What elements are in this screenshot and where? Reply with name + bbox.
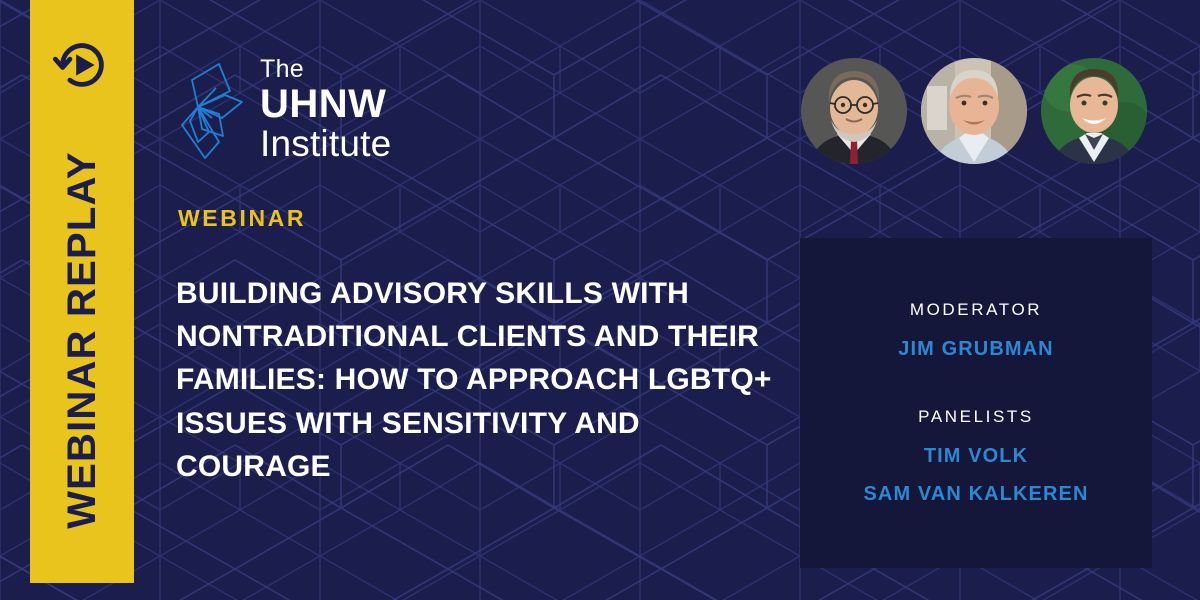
headshot-jim-grubman xyxy=(801,58,907,164)
replay-banner-label: WEBINAR REPLAY xyxy=(62,151,102,529)
logo-line-institute: Institute xyxy=(260,125,391,162)
speakers-panel: MODERATOR JIM GRUBMAN PANELISTS TIM VOLK… xyxy=(800,238,1152,568)
headshot-sam-van-kalkeren xyxy=(1041,58,1147,164)
headshot-tim-volk xyxy=(921,58,1027,164)
replay-circle-play-icon xyxy=(51,34,113,96)
uhnw-origami-mark-icon xyxy=(178,58,244,162)
logo-line-uhnw: UHNW xyxy=(260,84,391,124)
uhnw-institute-logo: The UHNW Institute xyxy=(178,57,391,162)
moderator-label: MODERATOR xyxy=(910,300,1042,320)
panelist-name-2: SAM VAN KALKEREN xyxy=(863,483,1088,506)
webinar-replay-banner-strip: WEBINAR REPLAY xyxy=(30,0,134,583)
eyebrow-label: WEBINAR xyxy=(178,205,306,232)
logo-line-the: The xyxy=(260,57,391,82)
webinar-replay-banner: WEBINAR REPLAY The UHNW Institute WEBINA… xyxy=(0,0,1200,600)
speaker-headshots xyxy=(801,58,1147,164)
panelists-label: PANELISTS xyxy=(918,407,1034,427)
panelist-name-1: TIM VOLK xyxy=(924,445,1028,468)
moderator-name: JIM GRUBMAN xyxy=(898,338,1053,361)
page-title: BUILDING ADVISORY SKILLS WITH NONTRADITI… xyxy=(176,272,776,488)
